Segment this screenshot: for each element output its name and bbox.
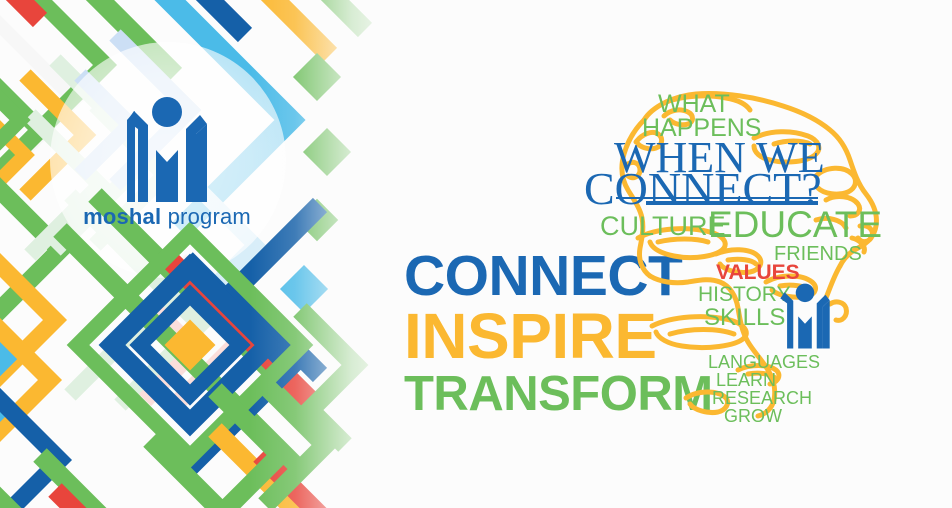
word-cloud-text-layer: WHAT HAPPENS WHEN WE CONNECT? CULTURE ED…: [578, 68, 888, 423]
cloud-word-research: RESEARCH: [712, 389, 812, 407]
cloud-word-culture: CULTURE: [600, 213, 726, 240]
cloud-word-learn: LEARN: [716, 371, 776, 389]
africa-word-cloud: WHAT HAPPENS WHEN WE CONNECT? CULTURE ED…: [578, 68, 888, 423]
moshal-wordmark: moshal program: [72, 204, 262, 230]
three-figures-logo-icon: [99, 84, 235, 202]
decorative-pattern-panel: [0, 0, 400, 508]
cloud-word-educate: EDUCATE: [708, 206, 882, 243]
wordmark-bold: moshal: [83, 204, 161, 229]
cloud-three-figures-logo-icon: [763, 274, 847, 350]
wordmark-light: program: [161, 204, 251, 229]
headline-rule-thin: [616, 197, 818, 199]
maze-pattern-svg: [0, 0, 400, 508]
moshal-logo: moshal program: [72, 84, 262, 234]
cloud-word-grow: GROW: [724, 407, 782, 425]
cloud-word-languages: LANGUAGES: [708, 353, 820, 371]
banner-canvas: moshal program CONNECT INSPIRE TRANSFORM: [0, 0, 952, 508]
